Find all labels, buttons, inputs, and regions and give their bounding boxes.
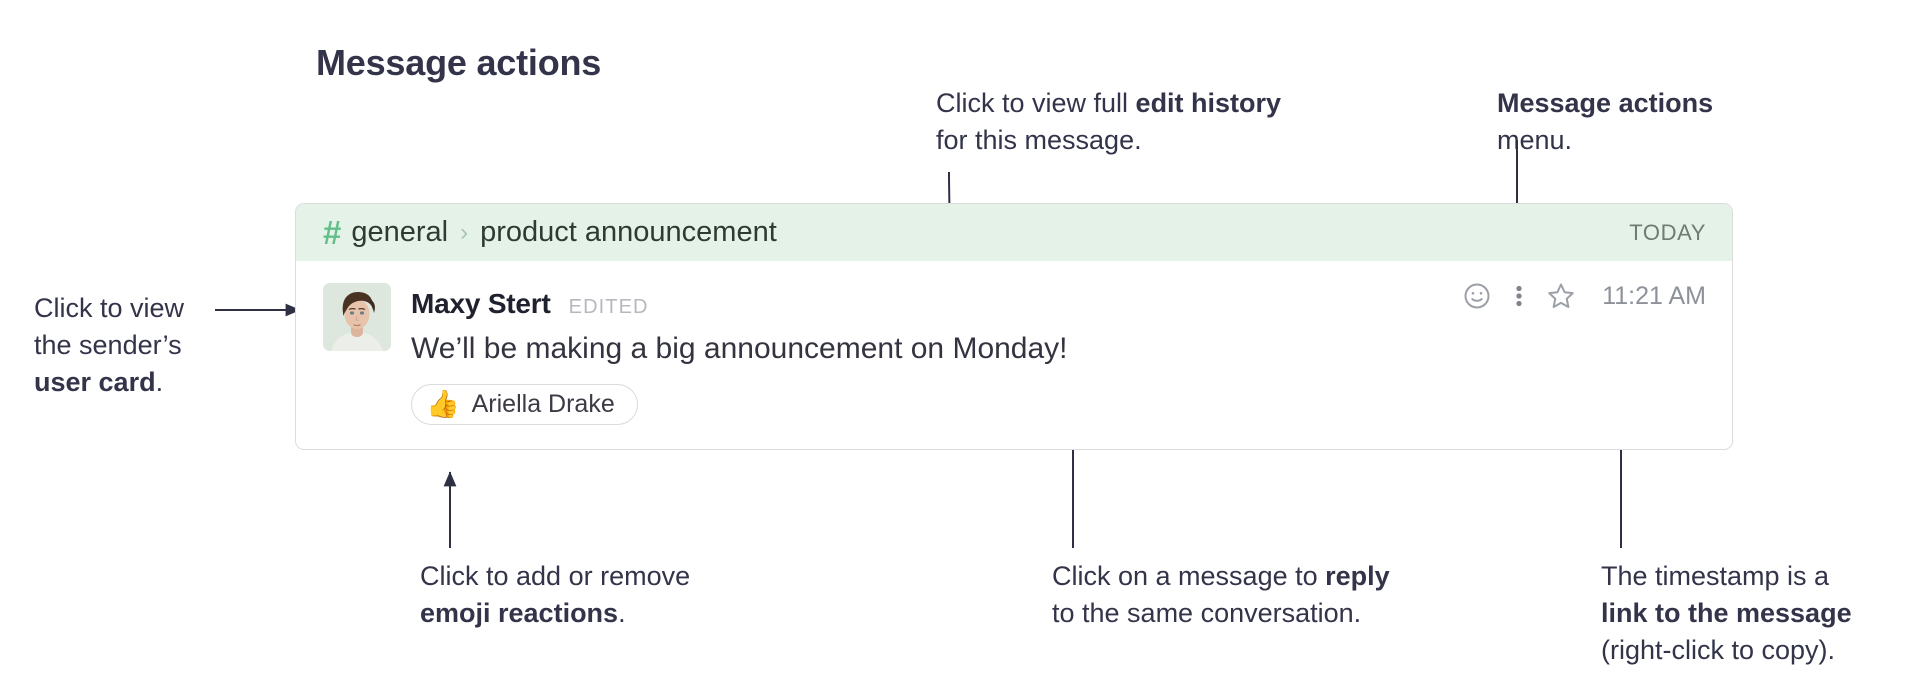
annotation-edit-history: Click to view full edit history for this…	[936, 85, 1356, 159]
annotation-text-suffix: for this message.	[936, 125, 1142, 155]
annotation-text-bold: edit history	[1136, 88, 1282, 118]
annotation-text-suffix: menu.	[1497, 125, 1572, 155]
channel-header: # general › product announcement TODAY	[296, 204, 1732, 261]
message-timestamp-link[interactable]: 11:21 AM	[1602, 282, 1706, 311]
star-outline-icon[interactable]	[1546, 281, 1576, 311]
annotation-user-card: Click to view the sender’s user card.	[34, 290, 264, 401]
annotation-text-suffix: to the same conversation.	[1052, 598, 1361, 628]
annotation-text-prefix: Click to add or remove	[420, 561, 690, 591]
edited-badge[interactable]: EDITED	[569, 296, 649, 319]
annotation-text-bold: Message actions	[1497, 88, 1713, 118]
annotation-text-bold: emoji reactions	[420, 598, 618, 628]
annotation-text-prefix: Click on a message to	[1052, 561, 1325, 591]
reaction-reactor-name: Ariella Drake	[472, 390, 615, 419]
reaction-row: 👍 Ariella Drake	[411, 384, 1706, 425]
message-content: Maxy Stert EDITED	[411, 283, 1706, 425]
topic-name-link[interactable]: product announcement	[480, 216, 777, 249]
annotation-text-bold: user card	[34, 367, 156, 397]
annotation-text-suffix: (right-click to copy).	[1601, 635, 1835, 665]
kebab-menu-icon[interactable]	[1514, 281, 1524, 311]
annotation-text-suffix: .	[618, 598, 626, 628]
chevron-right-icon: ›	[460, 221, 468, 245]
channel-name-link[interactable]: general	[351, 216, 448, 249]
annotation-actions-menu: Message actions menu.	[1497, 85, 1797, 159]
message-actions-toolbar: 11:21 AM	[1462, 281, 1706, 311]
annotation-emoji-reactions: Click to add or remove emoji reactions.	[420, 558, 780, 632]
date-label: TODAY	[1629, 220, 1706, 246]
message-row[interactable]: Maxy Stert EDITED	[296, 261, 1732, 449]
annotation-text-bold: link to the message	[1601, 598, 1852, 628]
annotation-reply: Click on a message to reply to the same …	[1052, 558, 1472, 632]
avatar-photo	[323, 283, 391, 351]
annotation-text-prefix: Click to view full	[936, 88, 1136, 118]
annotation-text-bold: reply	[1325, 561, 1390, 591]
emoji-reaction-pill[interactable]: 👍 Ariella Drake	[411, 384, 638, 425]
avatar[interactable]	[323, 283, 391, 351]
annotation-text-prefix: Click to view the sender’s	[34, 293, 184, 360]
hash-icon: #	[323, 216, 340, 249]
sender-name[interactable]: Maxy Stert	[411, 288, 551, 320]
annotation-text-prefix: The timestamp is a	[1601, 561, 1829, 591]
message-card: # general › product announcement TODAY	[295, 203, 1733, 450]
message-header-row: Maxy Stert EDITED	[411, 283, 1706, 320]
annotation-timestamp: The timestamp is a link to the message (…	[1601, 558, 1924, 669]
page-root: Message actions Click to view full edit …	[0, 0, 1924, 696]
thumbs-up-icon: 👍	[426, 391, 460, 418]
smiley-face-icon[interactable]	[1462, 281, 1492, 311]
page-title: Message actions	[316, 42, 601, 84]
message-text[interactable]: We’ll be making a big announcement on Mo…	[411, 330, 1706, 368]
annotation-text-suffix: .	[156, 367, 164, 397]
